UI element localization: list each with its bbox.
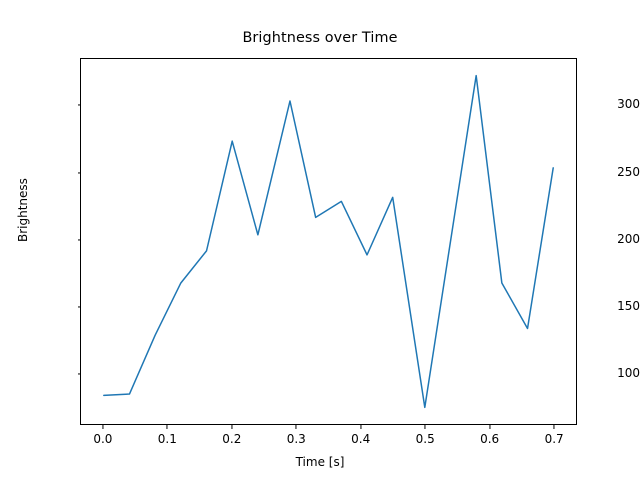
data-line-series: [81, 59, 576, 424]
y-tick-label: 200: [566, 232, 640, 246]
x-tick-mark: [231, 425, 232, 429]
x-tick-mark: [296, 425, 297, 429]
x-tick-label: 0.5: [416, 432, 435, 446]
y-tick-label: 300: [566, 97, 640, 111]
y-tick-label: 250: [566, 165, 640, 179]
x-tick-mark: [554, 425, 555, 429]
x-tick-mark: [360, 425, 361, 429]
x-tick-mark: [489, 425, 490, 429]
x-tick-mark: [102, 425, 103, 429]
plot-area: [80, 58, 577, 425]
x-tick-mark: [167, 425, 168, 429]
x-tick-label: 0.1: [158, 432, 177, 446]
x-tick-label: 0.4: [351, 432, 370, 446]
x-tick-label: 0.0: [93, 432, 112, 446]
figure-canvas: Brightness over Time Brightness 10015020…: [0, 0, 640, 480]
x-tick-mark: [425, 425, 426, 429]
series-polyline: [104, 76, 553, 408]
x-tick-label: 0.3: [287, 432, 306, 446]
x-axis-label: Time [s]: [0, 455, 640, 469]
y-tick-label: 150: [566, 299, 640, 313]
x-tick-label: 0.2: [222, 432, 241, 446]
x-tick-label: 0.6: [480, 432, 499, 446]
y-tick-label: 100: [566, 366, 640, 380]
x-tick-label: 0.7: [545, 432, 564, 446]
